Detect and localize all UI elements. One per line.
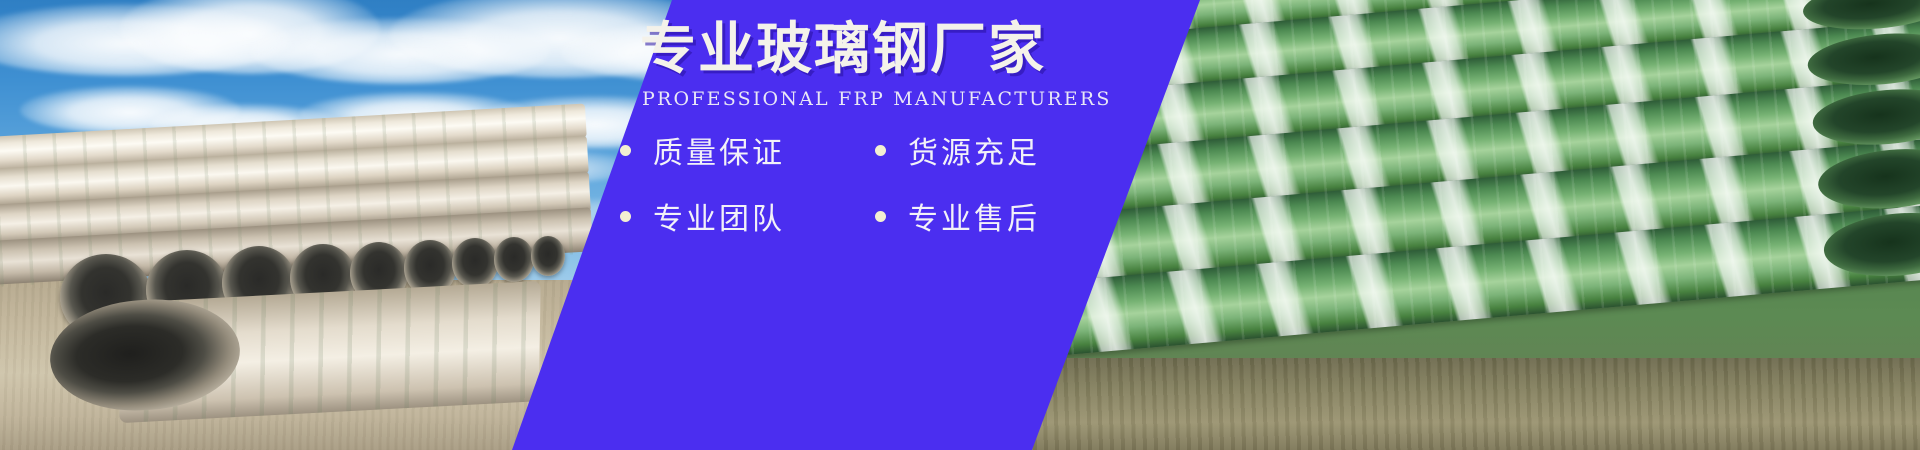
feature-item: 货源充足 <box>875 128 1130 172</box>
feature-label: 货源充足 <box>908 128 1040 172</box>
banner-subtitle: PROFESSIONAL FRP MANUFACTURERS <box>642 88 1112 110</box>
feature-item: 质量保证 <box>620 128 875 172</box>
feature-list: 质量保证 货源充足 专业团队 专业售后 <box>620 128 1130 238</box>
feature-label: 质量保证 <box>653 128 785 172</box>
green-pipe-end <box>1816 143 1920 214</box>
feature-label: 专业团队 <box>653 194 785 238</box>
bullet-dot-icon <box>620 211 631 222</box>
green-pipe-ends <box>1721 0 1920 408</box>
green-pipe-end <box>1821 207 1920 282</box>
pipe-end <box>452 238 498 288</box>
promo-banner: 专业玻璃钢厂家 PROFESSIONAL FRP MANUFACTURERS 质… <box>0 0 1920 450</box>
feature-item: 专业售后 <box>875 194 1130 238</box>
banner-title: 专业玻璃钢厂家 <box>640 22 1110 78</box>
green-pipe-end <box>1806 28 1920 91</box>
feature-label: 专业售后 <box>908 194 1040 238</box>
bullet-dot-icon <box>875 145 886 156</box>
bullet-dot-icon <box>620 145 631 156</box>
green-pipe-end <box>1811 84 1920 151</box>
green-pipe-end <box>1801 0 1920 35</box>
promo-text-content: 专业玻璃钢厂家 PROFESSIONAL FRP MANUFACTURERS 质… <box>612 0 1132 450</box>
pipe-end <box>494 237 534 282</box>
pipe-end <box>531 236 565 276</box>
bullet-dot-icon <box>875 211 886 222</box>
pipe-row <box>0 135 589 208</box>
feature-item: 专业团队 <box>620 194 875 238</box>
